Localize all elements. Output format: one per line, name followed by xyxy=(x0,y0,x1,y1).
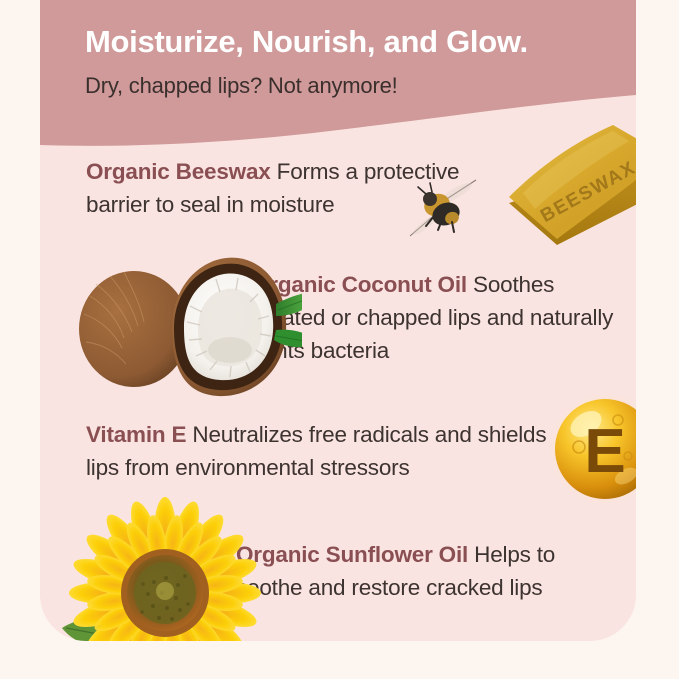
ingredient-name-beeswax: Organic Beeswax xyxy=(86,159,271,184)
header-text-group: Moisturize, Nourish, and Glow. Dry, chap… xyxy=(40,0,636,120)
ingredient-block-vitamin-e: Vitamin E Neutralizes free radicals and … xyxy=(86,418,556,484)
coconut-image xyxy=(62,246,302,406)
infographic-panel: Moisturize, Nourish, and Glow. Dry, chap… xyxy=(40,0,636,641)
coconut-inner-texture xyxy=(208,337,252,363)
ingredient-text-coconut: Organic Coconut Oil Soothes irritated or… xyxy=(252,268,632,367)
page-title: Moisturize, Nourish, and Glow. xyxy=(85,24,528,60)
page-subtitle: Dry, chapped lips? Not anymore! xyxy=(85,73,398,99)
bee-image xyxy=(408,178,478,240)
ingredient-block-coconut: Organic Coconut Oil Soothes irritated or… xyxy=(252,268,632,367)
ingredient-name-vitamin-e: Vitamin E xyxy=(86,422,186,447)
sunflower-image xyxy=(52,488,282,641)
ingredient-text-vitamin-e: Vitamin E Neutralizes free radicals and … xyxy=(86,418,556,484)
ingredient-block-sunflower: Organic Sunflower Oil Helps to soothe an… xyxy=(236,538,626,604)
ingredient-text-sunflower: Organic Sunflower Oil Helps to soothe an… xyxy=(236,538,626,604)
capsule-letter-label: E xyxy=(584,417,625,486)
sunflower-center-pollen xyxy=(156,582,174,600)
beeswax-bar-image: BEESWAX xyxy=(495,105,636,255)
vitamin-e-capsule-image: E xyxy=(548,392,636,506)
